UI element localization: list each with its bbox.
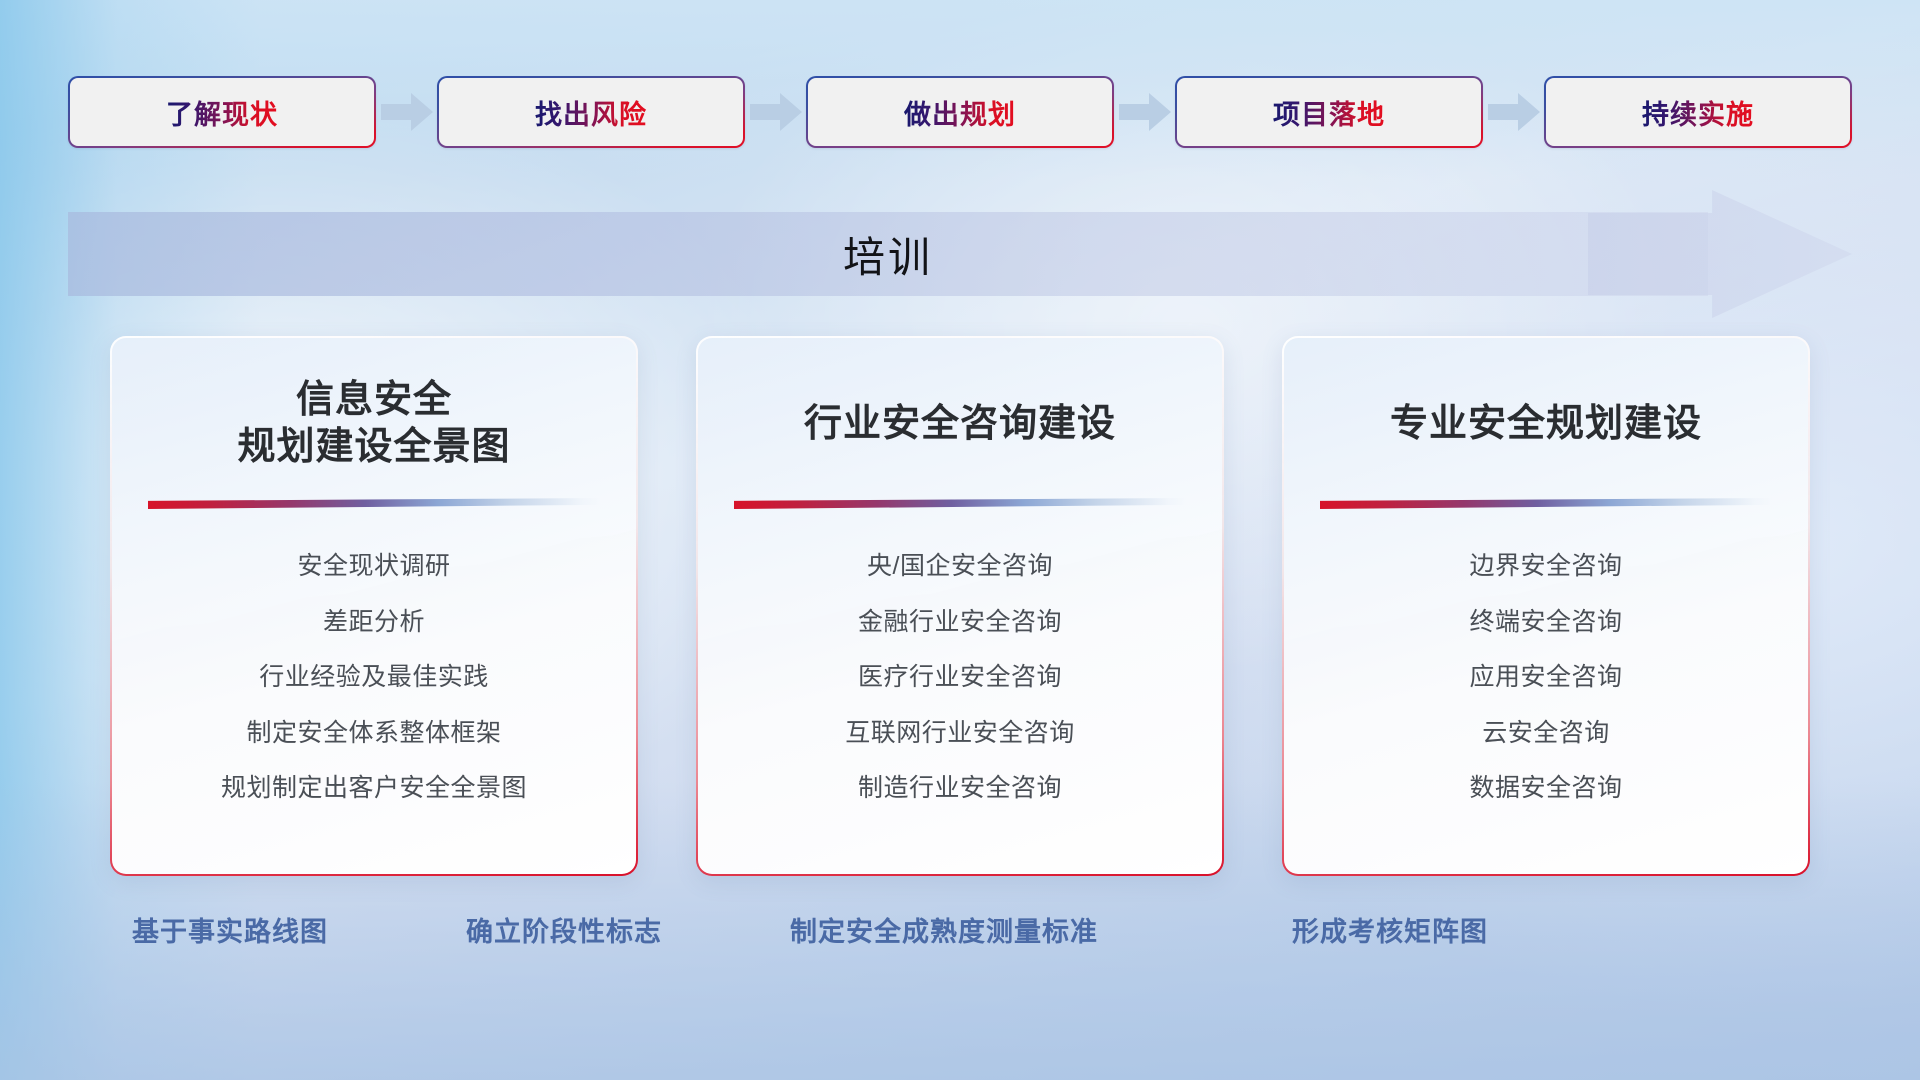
list-item: 终端安全咨询 — [1469, 599, 1622, 647]
card-title-line1: 行业安全咨询建设 — [728, 401, 1192, 448]
list-item: 云安全咨询 — [1482, 710, 1610, 758]
card-group: 信息安全 规划建设全景图 安全现状调研 差距分析 行业经验及最佳实践 制定安全体… — [110, 336, 1810, 876]
list-item: 行业经验及最佳实践 — [259, 654, 489, 702]
step-arrow-1 — [376, 76, 437, 148]
card-info-security-blueprint[interactable]: 信息安全 规划建设全景图 安全现状调研 差距分析 行业经验及最佳实践 制定安全体… — [110, 336, 638, 876]
card-industry-security-consulting[interactable]: 行业安全咨询建设 央/国企安全咨询 金融行业安全咨询 医疗行业安全咨询 互联网行… — [696, 336, 1224, 876]
list-item: 金融行业安全咨询 — [858, 599, 1062, 647]
card-professional-security-planning[interactable]: 专业安全规划建设 边界安全咨询 终端安全咨询 应用安全咨询 云安全咨询 数据安全… — [1282, 336, 1810, 876]
card-title: 行业安全咨询建设 — [728, 372, 1192, 476]
card-divider — [148, 498, 600, 509]
step-label-1: 了解现状 — [166, 93, 278, 132]
card-title-line2: 规划建设全景图 — [142, 424, 606, 471]
bottom-label-2: 确立阶段性标志 — [466, 910, 662, 949]
list-item: 互联网行业安全咨询 — [845, 710, 1075, 758]
arrow-right-icon — [1488, 93, 1540, 131]
card-divider — [1320, 498, 1772, 509]
training-banner: 培训 — [68, 190, 1852, 318]
training-banner-title: 培训 — [68, 212, 1708, 296]
step-box-3[interactable]: 做出规划 — [806, 76, 1114, 148]
bottom-label-1: 基于事实路线图 — [132, 910, 328, 949]
step-box-1[interactable]: 了解现状 — [68, 76, 376, 148]
step-arrow-3 — [1114, 76, 1175, 148]
bottom-label-3: 制定安全成熟度测量标准 — [790, 910, 1098, 949]
list-item: 医疗行业安全咨询 — [858, 654, 1062, 702]
card-item-list: 央/国企安全咨询 金融行业安全咨询 医疗行业安全咨询 互联网行业安全咨询 制造行… — [728, 543, 1192, 813]
list-item: 规划制定出客户安全全景图 — [221, 765, 527, 813]
list-item: 边界安全咨询 — [1469, 543, 1622, 591]
step-label-3: 做出规划 — [904, 93, 1016, 132]
bottom-label-row: 基于事实路线图 确立阶段性标志 制定安全成熟度测量标准 形成考核矩阵图 — [0, 910, 1920, 970]
card-title-line1: 专业安全规划建设 — [1314, 401, 1778, 448]
list-item: 制造行业安全咨询 — [858, 765, 1062, 813]
list-item: 央/国企安全咨询 — [867, 543, 1053, 591]
card-title: 专业安全规划建设 — [1314, 372, 1778, 476]
list-item: 应用安全咨询 — [1469, 654, 1622, 702]
card-divider — [734, 498, 1186, 509]
list-item: 安全现状调研 — [297, 543, 450, 591]
step-box-4[interactable]: 项目落地 — [1175, 76, 1483, 148]
step-arrow-4 — [1483, 76, 1544, 148]
card-title: 信息安全 规划建设全景图 — [142, 372, 606, 476]
card-item-list: 边界安全咨询 终端安全咨询 应用安全咨询 云安全咨询 数据安全咨询 — [1314, 543, 1778, 813]
step-arrow-2 — [745, 76, 806, 148]
step-label-5: 持续实施 — [1642, 93, 1754, 132]
step-box-5[interactable]: 持续实施 — [1544, 76, 1852, 148]
arrow-right-icon — [1119, 93, 1171, 131]
step-box-2[interactable]: 找出风险 — [437, 76, 745, 148]
list-item: 数据安全咨询 — [1469, 765, 1622, 813]
list-item: 制定安全体系整体框架 — [246, 710, 501, 758]
arrow-right-icon — [750, 93, 802, 131]
step-label-4: 项目落地 — [1273, 93, 1385, 132]
card-title-line1: 信息安全 — [142, 377, 606, 424]
process-step-row: 了解现状 找出风险 做出规划 项目落地 持续实施 — [68, 76, 1852, 148]
arrow-right-icon — [381, 93, 433, 131]
card-item-list: 安全现状调研 差距分析 行业经验及最佳实践 制定安全体系整体框架 规划制定出客户… — [142, 543, 606, 813]
bottom-label-4: 形成考核矩阵图 — [1292, 910, 1488, 949]
step-label-2: 找出风险 — [535, 93, 647, 132]
list-item: 差距分析 — [323, 599, 425, 647]
